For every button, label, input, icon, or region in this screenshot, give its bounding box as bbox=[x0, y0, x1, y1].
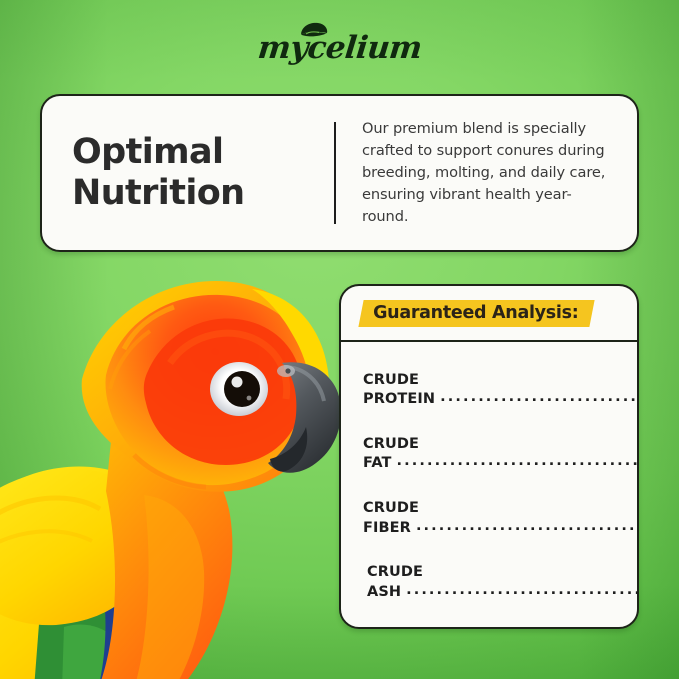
guaranteed-analysis-card: Guaranteed Analysis: CRUDE PROTEIN .....… bbox=[339, 284, 639, 629]
analysis-heading: Guaranteed Analysis: bbox=[373, 303, 578, 323]
analysis-header: Guaranteed Analysis: bbox=[341, 286, 637, 342]
dot-leader: ...................................... bbox=[440, 388, 639, 408]
analysis-rows: CRUDE PROTEIN ..........................… bbox=[341, 342, 637, 627]
nutrient-label-line2: FIBER bbox=[363, 519, 411, 539]
page-title: Optimal Nutrition bbox=[72, 132, 245, 215]
table-row: CRUDE PROTEIN ..........................… bbox=[363, 371, 619, 410]
vertical-divider bbox=[334, 122, 336, 224]
dot-leader: ...................................... bbox=[406, 581, 639, 601]
dot-leader: ...................................... bbox=[416, 517, 639, 537]
hero-description: Our premium blend is specially crafted t… bbox=[362, 118, 615, 229]
dot-leader: ...................................... bbox=[397, 452, 639, 472]
hero-body-area: Our premium blend is specially crafted t… bbox=[362, 114, 615, 232]
optimal-nutrition-card: Optimal Nutrition Our premium blend is s… bbox=[40, 94, 639, 252]
nutrient-label: CRUDE PROTEIN ..........................… bbox=[363, 371, 639, 410]
nutrient-label-line2: FAT bbox=[363, 454, 392, 474]
brand-logo: mycelium bbox=[0, 22, 679, 74]
nutrient-label-line2: PROTEIN bbox=[363, 390, 435, 410]
nutrient-label-line2: ASH bbox=[367, 583, 401, 603]
table-row: CRUDE FIBER ............................… bbox=[363, 499, 619, 538]
table-row: CRUDE ASH ..............................… bbox=[363, 563, 619, 602]
table-row: CRUDE FAT ..............................… bbox=[363, 435, 619, 474]
nutrient-label: CRUDE FAT ..............................… bbox=[363, 435, 639, 474]
hero-title-area: Optimal Nutrition bbox=[72, 114, 334, 232]
page-title-line2: Nutrition bbox=[72, 173, 245, 214]
analysis-heading-highlight: Guaranteed Analysis: bbox=[358, 300, 595, 327]
nutrient-label: CRUDE ASH ..............................… bbox=[363, 563, 639, 602]
brand-name: mycelium bbox=[256, 33, 423, 64]
nutrient-label: CRUDE FIBER ............................… bbox=[363, 499, 639, 538]
page-title-line1: Optimal bbox=[72, 132, 245, 173]
